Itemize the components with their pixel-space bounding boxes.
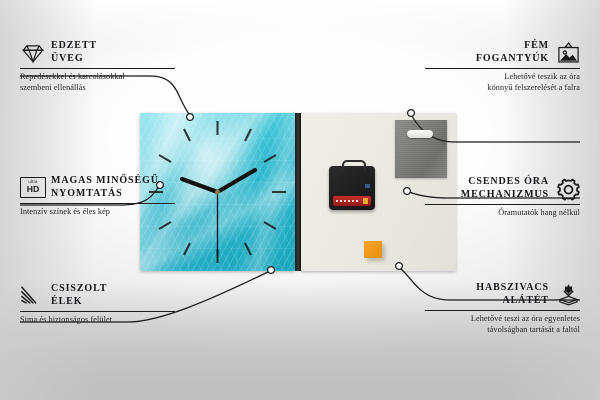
connector-dot-foam-pad — [396, 263, 403, 270]
ultra-hd-label-hd: HD — [27, 185, 39, 194]
connector-dot-polished-edges — [268, 267, 275, 274]
gear-icon — [556, 178, 580, 200]
infographic-canvas: EDZETT ÜVEG Repedésekkel és karcolásokka… — [0, 0, 600, 400]
feature-subtitle: Intenzív színek és éles kép — [20, 207, 175, 218]
feature-polished-edges: CSISZOLT ÉLEK Sima és biztonságos felüle… — [20, 283, 175, 326]
feature-divider — [20, 68, 175, 69]
feature-high-quality-print: ultra HD MAGAS MINŐSÉGŰ NYOMTATÁS Intenz… — [20, 175, 175, 218]
connector-metal-handles — [412, 116, 580, 142]
feature-subtitle: Repedésekkel és karcolásokkal szembeni e… — [20, 72, 175, 93]
polished-edges-icon — [20, 285, 44, 307]
feature-title: CSENDES ÓRA MECHANIZMUS — [461, 176, 549, 201]
connector-dot-metal-handles — [408, 110, 415, 117]
feature-foam-pad: HABSZIVACS ALÁTÉT Lehetővé teszi az óra … — [425, 282, 580, 335]
feature-tempered-glass: EDZETT ÜVEG Repedésekkel és karcolásokka… — [20, 40, 175, 93]
feature-subtitle: Lehetővé teszi az óra egyenletes távolsá… — [425, 314, 580, 335]
feature-metal-handles: FÉM FOGANTYÚK Lehetővé teszik az óra kön… — [425, 40, 580, 93]
feature-title: HABSZIVACS ALÁTÉT — [476, 282, 549, 307]
picture-hanger-icon — [556, 42, 580, 64]
ultra-hd-icon: ultra HD — [20, 177, 44, 199]
feature-title: FÉM FOGANTYÚK — [476, 40, 549, 65]
connector-dot-tempered-glass — [187, 114, 194, 121]
feature-divider — [20, 203, 175, 204]
feature-subtitle: Óramutatók hang nélkül — [425, 208, 580, 219]
feature-title: CSISZOLT ÉLEK — [51, 283, 107, 308]
connector-dot-silent-mechanism — [404, 188, 411, 195]
feature-subtitle: Sima és biztonságos felület — [20, 315, 175, 326]
hanger-keyhole-slot — [407, 130, 433, 138]
press-pad-icon — [556, 284, 580, 306]
feature-silent-mechanism: CSENDES ÓRA MECHANIZMUS Óramutatók hang … — [425, 176, 580, 219]
feature-divider — [20, 311, 175, 312]
feature-subtitle: Lehetővé teszik az óra könnyű felszerelé… — [425, 72, 580, 93]
feature-divider — [425, 68, 580, 69]
diamond-icon — [20, 42, 44, 64]
feature-divider — [425, 310, 580, 311]
feature-divider — [425, 204, 580, 205]
feature-title: EDZETT ÜVEG — [51, 40, 97, 65]
feature-title: MAGAS MINŐSÉGŰ NYOMTATÁS — [51, 175, 159, 200]
